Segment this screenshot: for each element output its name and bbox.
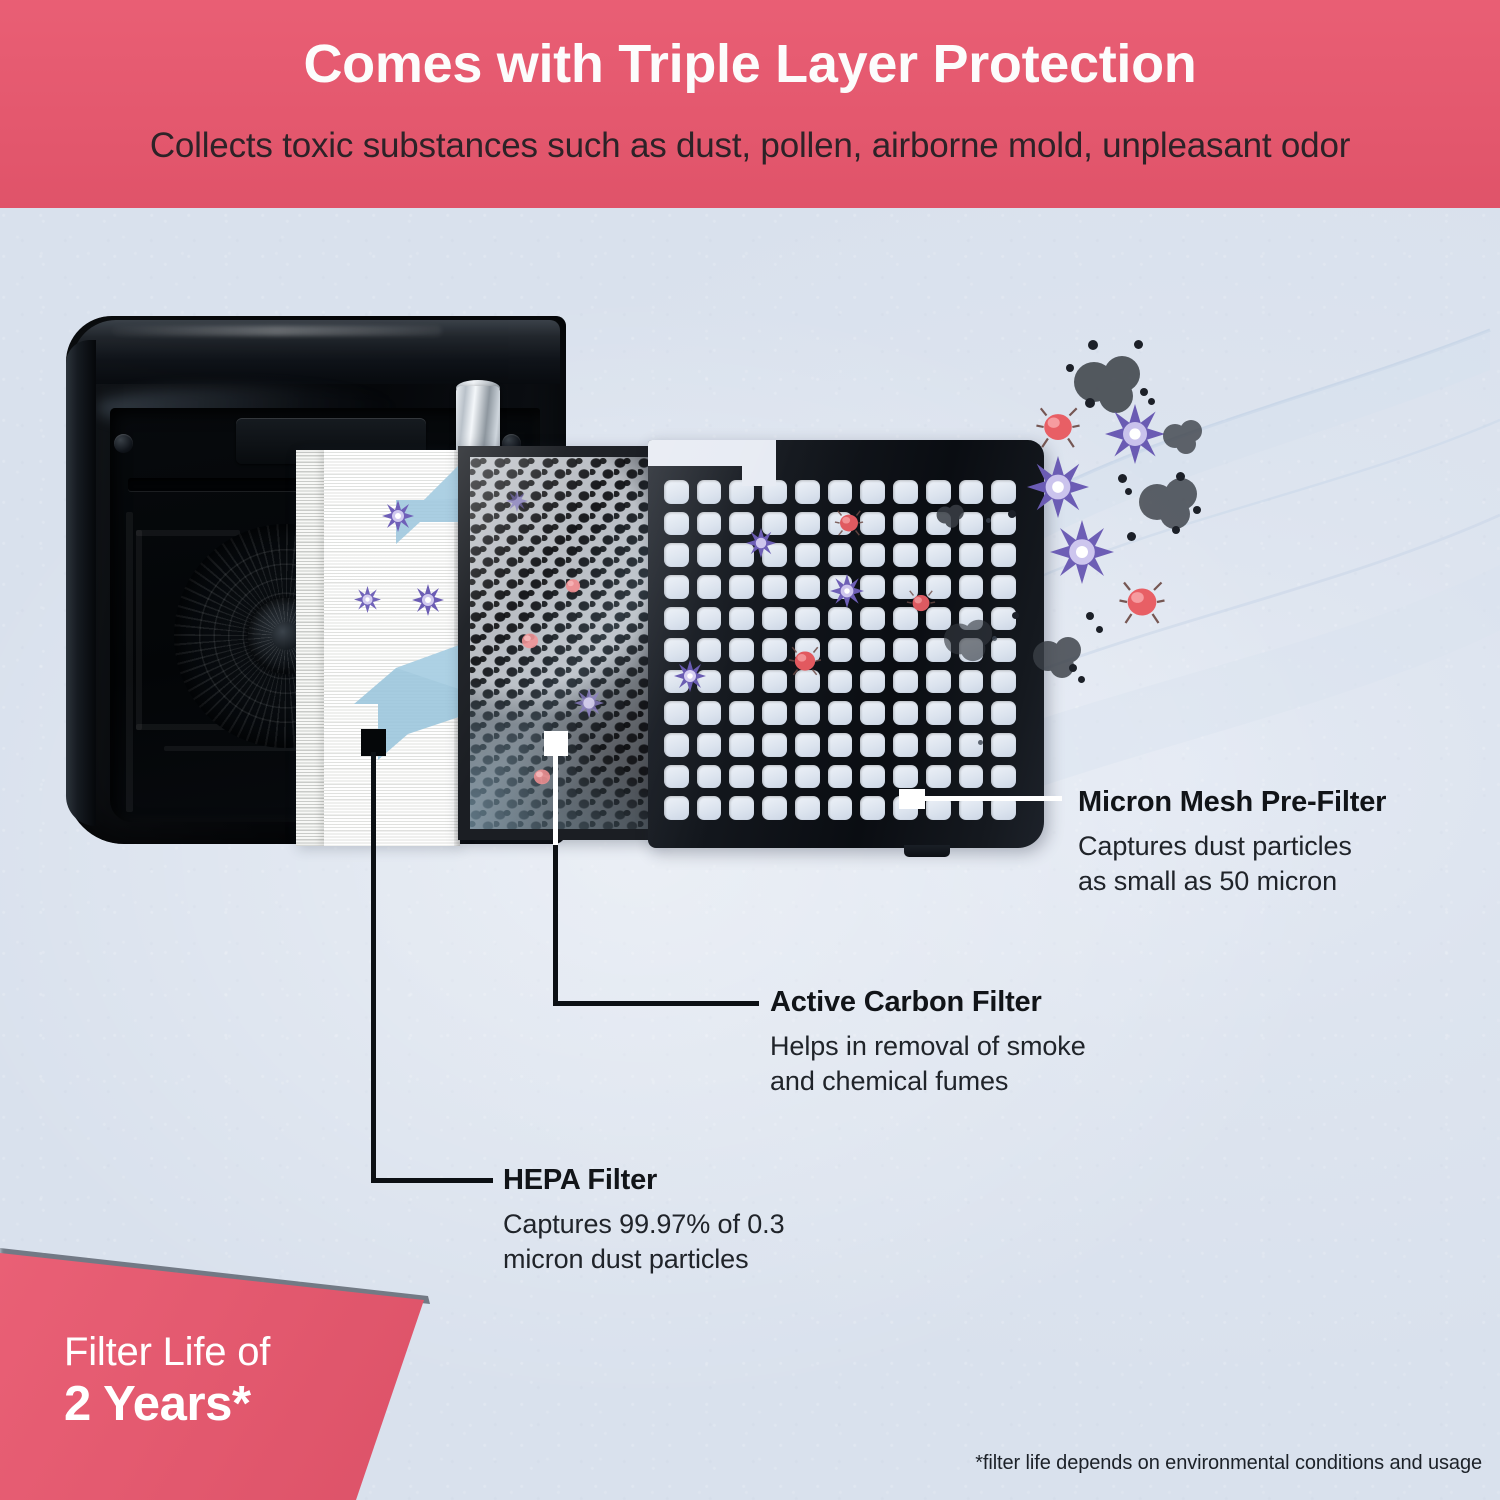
dust-dot-icon [1127,532,1136,541]
pollen-star-icon [1105,404,1165,464]
dust-dot-icon [1118,474,1127,483]
dust-dot-icon [1012,612,1019,619]
dust-mite-icon [788,644,822,678]
dust-dot-icon [1085,398,1095,408]
smoke-cloud-icon [1135,470,1205,532]
smoke-cloud-icon [1030,630,1086,680]
dust-mite-icon [1118,578,1166,626]
infographic-canvas: Comes with Triple Layer Protection Colle… [0,0,1500,1500]
dust-dot-icon [1066,364,1074,372]
active-carbon-leader-line [553,750,558,850]
micron-mesh-leader-line [922,796,1062,801]
dust-dot-icon [1176,472,1185,481]
callout-desc-line-1: Helps in removal of smoke [770,1029,1086,1064]
pollen-star-icon [746,528,776,558]
page-title: Comes with Triple Layer Protection [0,36,1500,92]
hepa-leader-line [371,1178,493,1183]
purifier-left-edge [66,340,96,826]
callout-desc-line-2: micron dust particles [503,1242,785,1277]
pollen-star-icon [574,688,604,718]
pollen-star-icon [354,586,381,613]
hepa-leader-line [371,752,376,1182]
smoke-cloud-icon [1160,414,1206,456]
pollen-star-icon [506,490,528,512]
callout-title: Active Carbon Filter [770,986,1086,1019]
mesh-bottom-tab [904,845,950,857]
purifier-ridge [126,512,133,812]
carbon-honeycomb [470,457,650,829]
page-subtitle: Collects toxic substances such as dust, … [0,126,1500,166]
micron-mesh-prefilter-layer [648,440,1044,848]
dust-dot-icon [1069,664,1077,672]
badge-line-2: 2 Years* [64,1376,404,1432]
smoke-cloud-icon [940,612,998,664]
dust-dot-icon [1088,340,1098,350]
dust-dot-icon [1008,510,1016,518]
pollen-star-icon [830,574,864,608]
dust-mite-icon [1035,404,1081,450]
dust-dot-icon [1140,388,1148,396]
callout-desc-line-2: as small as 50 micron [1078,864,1386,899]
purifier-ridge [136,530,142,730]
callout-desc-line-1: Captures 99.97% of 0.3 [503,1207,785,1242]
dust-mite-icon [834,508,864,538]
purifier-screw [114,434,133,453]
pollen-star-icon [382,500,414,532]
hepa-filter-layer [296,450,460,846]
dust-dot-icon [1134,340,1143,349]
active-carbon-leader-line [553,1001,759,1006]
smoke-cloud-icon [934,500,968,530]
dust-mite-icon [906,588,936,618]
dust-dot-icon [1193,506,1201,514]
active-carbon-leader-line [553,845,558,1005]
callout-title: HEPA Filter [503,1164,785,1197]
callout-desc-line-2: and chemical fumes [770,1064,1086,1099]
pollen-star-icon [674,660,706,692]
active-carbon-filter-layer [458,446,660,840]
dust-dot-icon [1125,488,1132,495]
badge-line-1: Filter Life of [64,1330,404,1375]
callout-desc-line-1: Captures dust particles [1078,829,1386,864]
dust-dot-icon [1096,626,1103,633]
pollen-star-icon [1050,520,1114,584]
footer-disclaimer: *filter life depends on environmental co… [975,1452,1482,1475]
mesh-stud [978,740,983,745]
dust-dot-icon [1086,612,1094,620]
hepa-left-edge [296,450,324,846]
callout-micron-mesh-pre-filter: Micron Mesh Pre-Filter Captures dust par… [1078,786,1386,898]
dust-mite-icon [562,574,584,596]
dust-mite-icon [518,628,542,652]
header-banner: Comes with Triple Layer Protection Colle… [0,0,1500,208]
mesh-top-notch [742,440,776,486]
dust-mite-icon [530,764,554,788]
callout-hepa-filter: HEPA Filter Captures 99.97% of 0.3 micro… [503,1164,785,1276]
purifier-top-rail [72,320,560,384]
mesh-stud [986,518,991,523]
dust-dot-icon [1148,398,1155,405]
dust-dot-icon [1172,526,1180,534]
pollen-star-icon [412,584,444,616]
callout-title: Micron Mesh Pre-Filter [1078,786,1386,819]
dust-dot-icon [1078,676,1085,683]
pollen-star-icon [1027,456,1089,518]
callout-active-carbon-filter: Active Carbon Filter Helps in removal of… [770,986,1086,1098]
